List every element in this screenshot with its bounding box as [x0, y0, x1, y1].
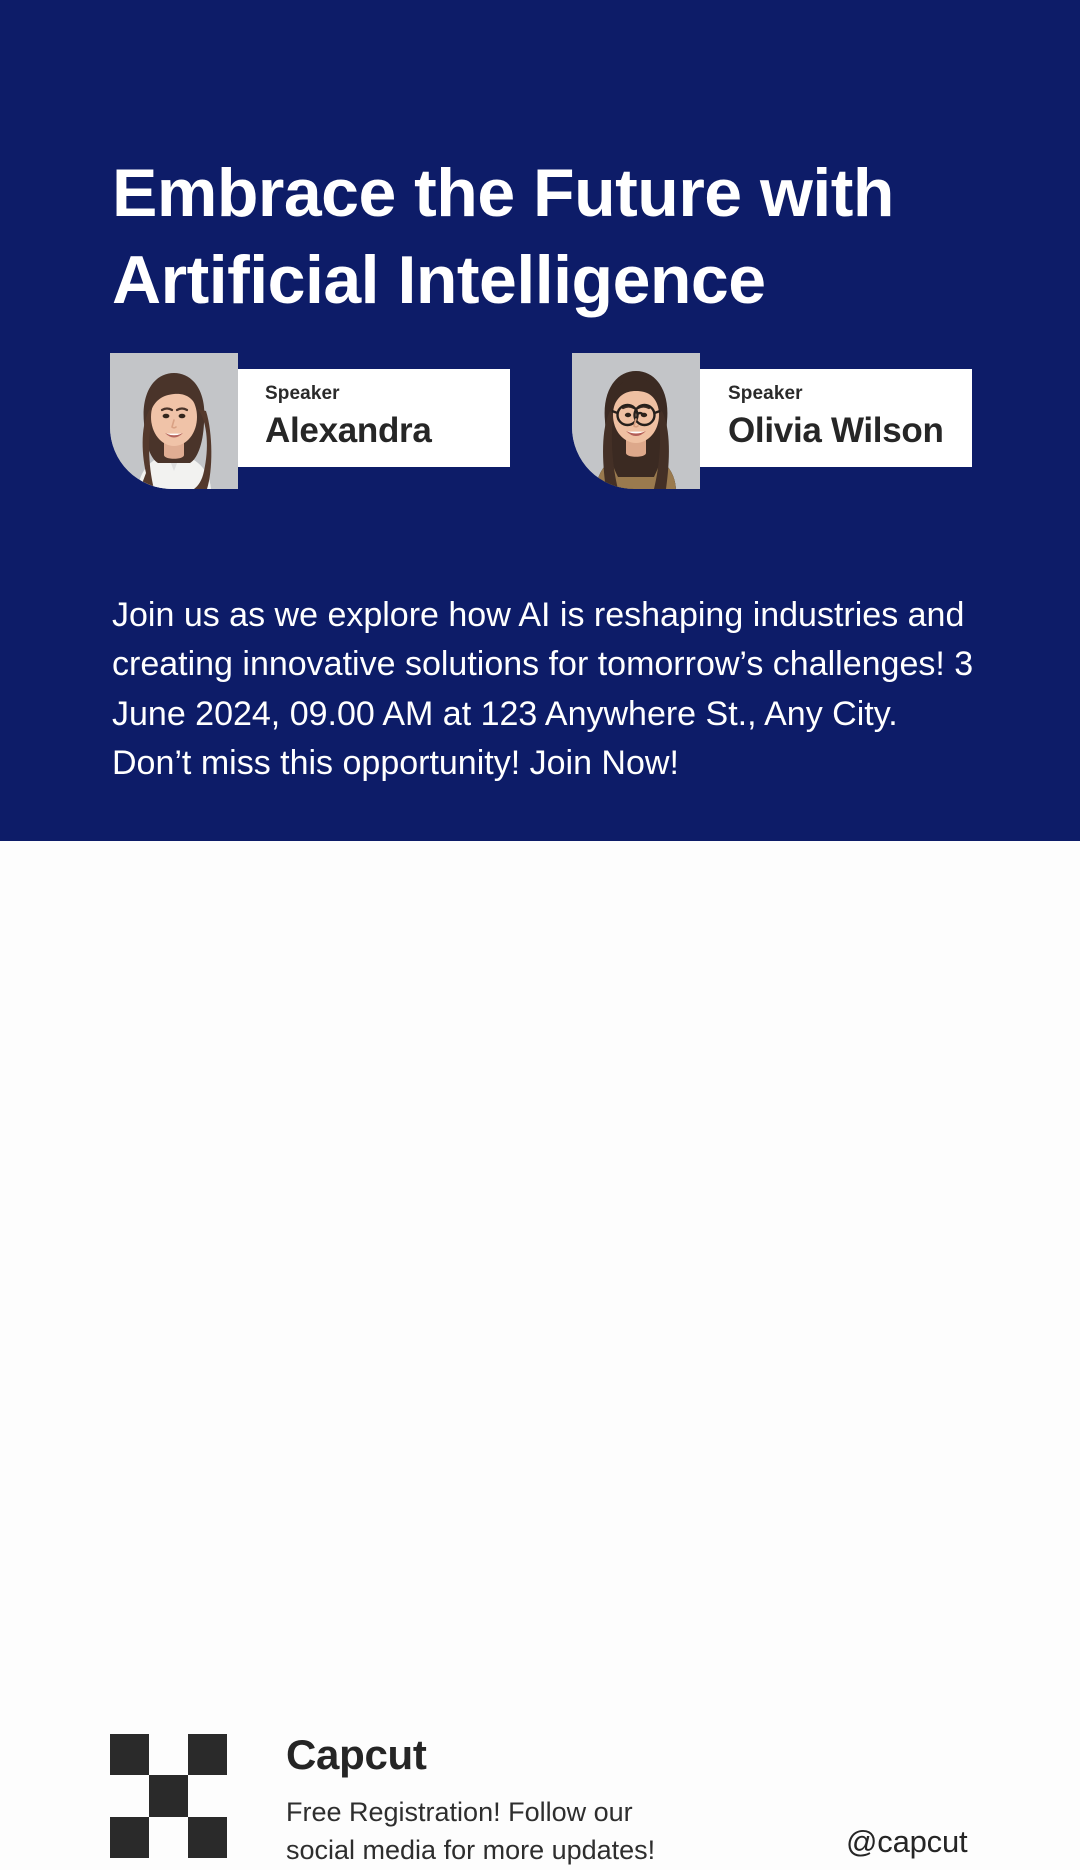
social-handle[interactable]: @capcut [846, 1826, 967, 1857]
event-poster: Embrace the Future with Artificial Intel… [0, 0, 1080, 1080]
speaker-card[interactable]: Speaker Alexandra [110, 353, 510, 489]
speaker-avatar [110, 353, 238, 489]
event-description: Join us as we explore how AI is reshapin… [112, 591, 982, 788]
footer-panel: Capcut Free Registration! Follow our soc… [0, 841, 1080, 1080]
hero-panel: Embrace the Future with Artificial Intel… [0, 0, 1080, 841]
logo-cell [149, 1775, 188, 1816]
speaker-name-plate: Speaker Olivia Wilson [700, 369, 972, 467]
speaker-avatar [572, 353, 700, 489]
logo-cell [110, 1734, 149, 1775]
logo-cell [188, 1817, 227, 1858]
logo-cell [149, 1734, 188, 1775]
speaker-name-label: Alexandra [265, 412, 510, 451]
speaker-list: Speaker Alexandra [0, 353, 1080, 493]
logo-cell [110, 1775, 149, 1816]
brand-block: Capcut Free Registration! Follow our soc… [286, 1733, 756, 1870]
speaker-role-label: Speaker [265, 384, 510, 403]
brand-tagline: Free Registration! Follow our social med… [286, 1793, 756, 1870]
speaker-name-label: Olivia Wilson [728, 412, 972, 451]
logo-cell [110, 1817, 149, 1858]
logo-cell [149, 1817, 188, 1858]
logo-cell [188, 1775, 227, 1816]
checkerboard-x-logo-icon [110, 1734, 227, 1858]
speaker-card[interactable]: Speaker Olivia Wilson [572, 353, 972, 489]
logo-cell [188, 1734, 227, 1775]
brand-name: Capcut [286, 1733, 756, 1777]
speaker-name-plate: Speaker Alexandra [237, 369, 510, 467]
page-title: Embrace the Future with Artificial Intel… [112, 150, 1012, 324]
speaker-role-label: Speaker [728, 384, 972, 403]
